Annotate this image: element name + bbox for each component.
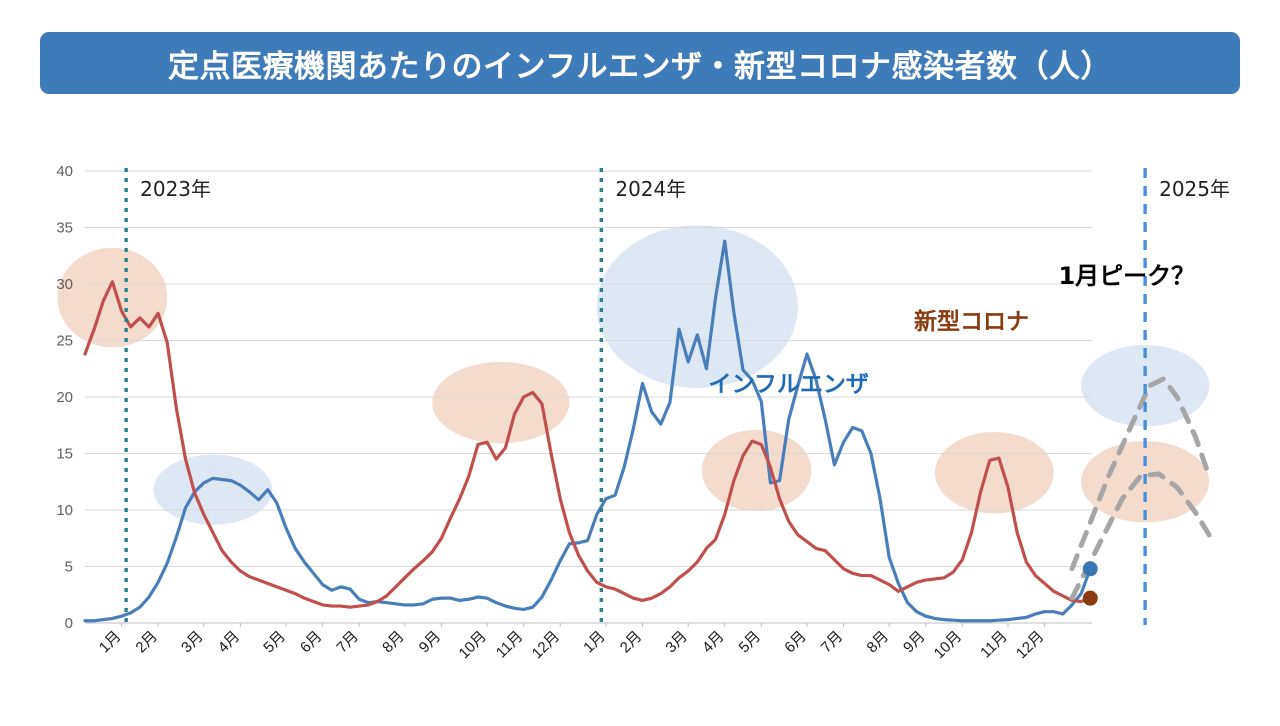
year-divider-label: 2024年 — [615, 177, 686, 201]
x-tick-label: 7月 — [333, 628, 362, 657]
x-axis-labels: 1月2月3月4月5月6月7月8月9月10月11月12月1月2月3月4月5月6月7… — [96, 623, 1048, 662]
chart-annotation-label: 1月ピーク？ — [1058, 262, 1195, 290]
x-tick-label: 4月 — [215, 628, 244, 657]
x-tick-label: 2月 — [617, 628, 646, 657]
x-tick-label: 8月 — [379, 628, 408, 657]
x-tick-label: 11月 — [977, 628, 1011, 662]
x-tick-label: 7月 — [818, 628, 847, 657]
x-tick-label: 6月 — [297, 628, 326, 657]
page-title-bar: 定点医療機関あたりのインフルエンザ・新型コロナ感染者数（人） — [40, 32, 1240, 94]
y-tick-label: 40 — [56, 163, 73, 180]
x-tick-label: 5月 — [736, 628, 765, 657]
x-tick-label: 9月 — [416, 628, 445, 657]
endpoint-marker-dot — [1083, 561, 1098, 576]
x-tick-label: 3月 — [178, 628, 207, 657]
x-tick-label: 4月 — [699, 628, 728, 657]
highlight-ellipse — [154, 455, 273, 525]
endpoint-marker-dot — [1083, 591, 1098, 606]
x-tick-label: 6月 — [781, 628, 810, 657]
year-divider-label: 2023年 — [140, 177, 211, 201]
x-tick-label: 11月 — [493, 628, 527, 662]
y-tick-label: 5 — [65, 559, 73, 576]
chart-annotation-label: 新型コロナ — [914, 308, 1029, 335]
page-title: 定点医療機関あたりのインフルエンザ・新型コロナ感染者数（人） — [168, 41, 1112, 86]
highlight-ellipse — [432, 362, 569, 443]
series-line — [85, 241, 1090, 621]
x-tick-label: 10月 — [456, 628, 490, 662]
x-tick-label: 3月 — [662, 628, 691, 657]
chart-container: 05101520253035401月2月3月4月5月6月7月8月9月10月11月… — [0, 110, 1280, 726]
y-tick-label: 0 — [65, 615, 73, 632]
infection-trend-line-chart: 05101520253035401月2月3月4月5月6月7月8月9月10月11月… — [0, 110, 1280, 726]
y-tick-label: 35 — [56, 220, 73, 237]
x-tick-label: 1月 — [580, 628, 609, 657]
y-tick-label: 10 — [56, 502, 73, 519]
y-tick-label: 15 — [56, 446, 73, 463]
y-tick-label: 20 — [56, 389, 73, 406]
x-tick-label: 10月 — [931, 628, 965, 662]
x-tick-label: 2月 — [132, 628, 161, 657]
series-lines — [85, 241, 1090, 621]
y-axis-labels: 0510152025303540 — [56, 163, 73, 632]
highlight-ellipse — [597, 225, 798, 388]
x-tick-label: 12月 — [529, 628, 563, 662]
x-tick-label: 8月 — [864, 628, 893, 657]
y-tick-label: 25 — [56, 333, 73, 350]
year-divider-label: 2025年 — [1159, 177, 1230, 201]
x-tick-label: 5月 — [260, 628, 289, 657]
x-tick-label: 1月 — [96, 628, 125, 657]
chart-annotation-label: インフルエンザ — [709, 371, 869, 397]
y-tick-label: 30 — [56, 276, 73, 293]
x-tick-label: 12月 — [1013, 628, 1047, 662]
highlight-ellipse — [58, 248, 168, 347]
x-tick-label: 9月 — [900, 628, 929, 657]
highlight-ellipse — [935, 432, 1054, 513]
gridlines — [85, 171, 1092, 623]
chart-page: 定点医療機関あたりのインフルエンザ・新型コロナ感染者数（人） 051015202… — [0, 0, 1280, 726]
